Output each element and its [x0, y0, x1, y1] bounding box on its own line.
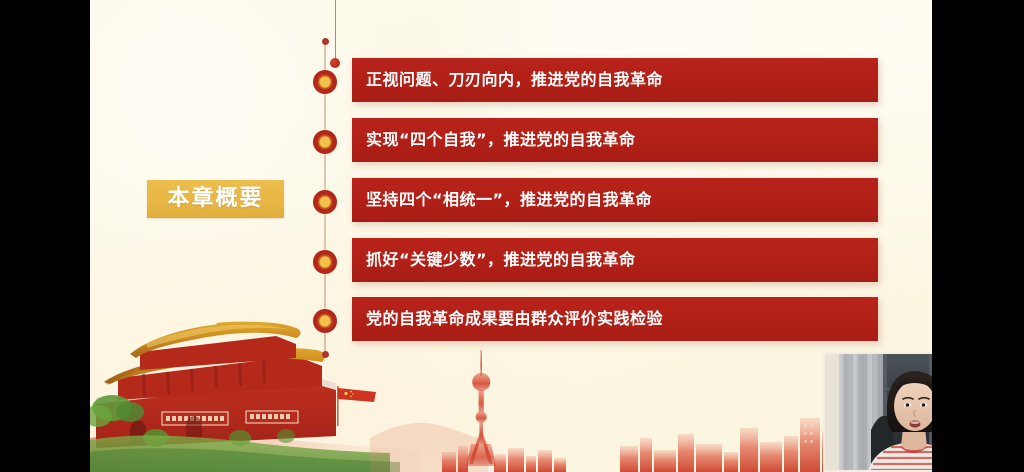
chapter-summary-label-text: 本章概要: [167, 188, 263, 210]
chapter-summary-label: 本章概要: [147, 180, 284, 218]
timeline-cap-dot-bottom: [322, 351, 329, 358]
outline-item-bar-3: 坚持四个“相统一”，推进党的自我革命: [352, 178, 878, 222]
timeline-node-3: [313, 190, 337, 214]
timeline-node-4: [313, 250, 337, 274]
outline-item-bar-2: 实现“四个自我”，推进党的自我革命: [352, 118, 878, 162]
outline-item-bar-1: 正视问题、刀刃向内，推进党的自我革命: [352, 58, 878, 102]
oriental-pearl-tower: [466, 350, 496, 466]
presentation-slide: 本章概要 正视问题、刀刃向内，推进党的自我革命 实现“四个自我”，推进党的自我革…: [90, 0, 932, 472]
video-player-stage: 本章概要 正视问题、刀刃向内，推进党的自我革命 实现“四个自我”，推进党的自我革…: [0, 0, 1024, 472]
webcam-video-frame: [825, 354, 932, 470]
outline-item-bar-5: 党的自我革命成果要由群众评价实践检验: [352, 297, 878, 341]
outline-item-bar-4: 抓好“关键少数”，推进党的自我革命: [352, 238, 878, 282]
webcam-scene: [825, 354, 932, 470]
outline-item-text-3: 坚持四个“相统一”，推进党的自我革命: [352, 191, 652, 209]
outline-item-text-1: 正视问题、刀刃向内，推进党的自我革命: [352, 71, 663, 89]
timeline-rail: [317, 38, 333, 358]
timeline-cap-dot-top: [322, 38, 329, 45]
timeline-node-5: [313, 309, 337, 333]
timeline-node-1: [313, 70, 337, 94]
chinese-flag: [337, 386, 376, 426]
timeline-node-2: [313, 130, 337, 154]
outline-item-text-4: 抓好“关键少数”，推进党的自我革命: [352, 251, 636, 269]
outline-item-text-2: 实现“四个自我”，推进党的自我革命: [352, 131, 636, 149]
outline-item-text-5: 党的自我革命成果要由群众评价实践检验: [352, 310, 663, 328]
lantern-string: [335, 0, 336, 60]
presenter-webcam-overlay[interactable]: [823, 352, 932, 472]
